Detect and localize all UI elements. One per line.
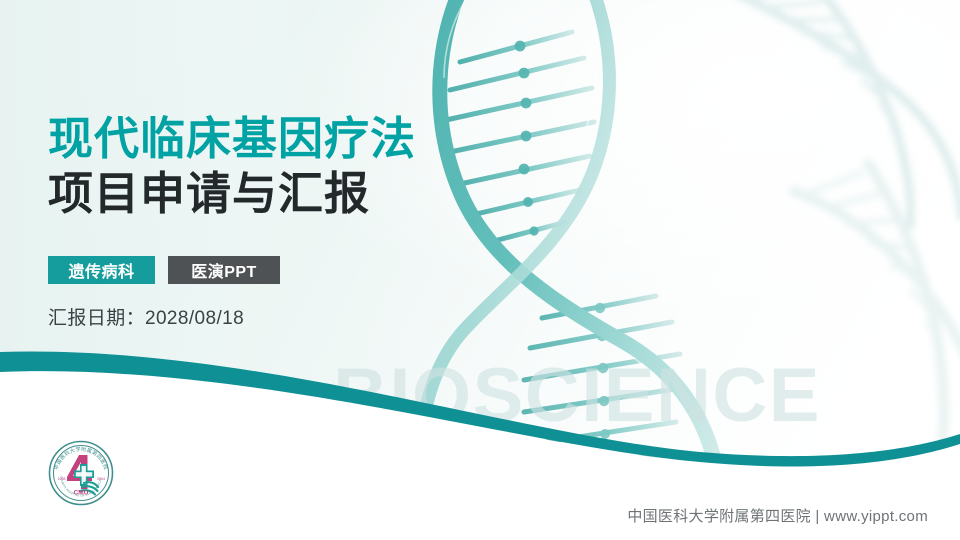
svg-text:CMU: CMU (74, 490, 89, 497)
presentation-cover-slide: BIOSCIENCE 现代临床基因疗法 项目申请与汇报 遗传病科 医演PPT 汇… (0, 0, 960, 540)
title-line-secondary: 项目申请与汇报 (48, 167, 416, 220)
page-title: 现代临床基因疗法 项目申请与汇报 (48, 112, 416, 220)
tag-source[interactable]: 医演PPT (168, 256, 280, 284)
report-date: 汇报日期：2028/08/18 (48, 303, 244, 330)
svg-text:1908: 1908 (58, 477, 66, 481)
hospital-logo: 中国医科大学附属第四医院 THE FOURTH HOSPITAL OF CHIN… (48, 440, 114, 506)
footer-credit: 中国医科大学附属第四医院 | www.yippt.com (627, 505, 928, 526)
tag-department[interactable]: 遗传病科 (48, 256, 155, 284)
tag-row: 遗传病科 医演PPT (48, 256, 280, 284)
title-line-primary: 现代临床基因疗法 (48, 112, 416, 165)
svg-text:2004: 2004 (97, 477, 105, 481)
